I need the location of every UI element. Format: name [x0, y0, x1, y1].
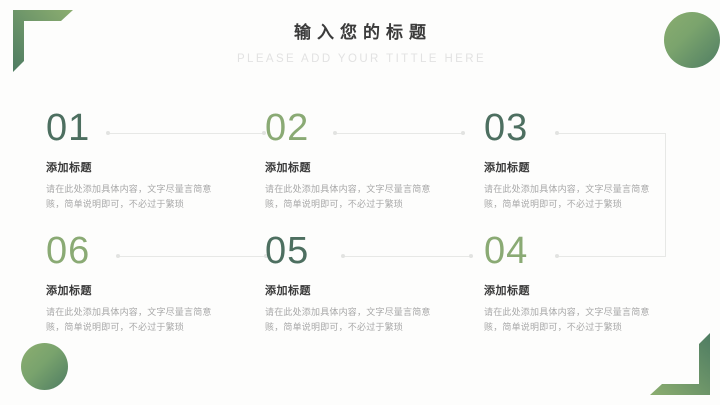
block-title-06: 添加标题 — [46, 284, 246, 298]
block-title-01: 添加标题 — [46, 161, 246, 175]
block-number-04: 04 — [484, 231, 684, 271]
block-number-06: 06 — [46, 231, 246, 271]
page-subtitle: PLEASE ADD YOUR TITTLE HERE — [0, 50, 720, 68]
page-title: 输入您的标题 — [0, 22, 720, 44]
block-number-05: 05 — [265, 231, 465, 271]
block-body-03: 请在此处添加具体内容，文字尽量言简意赅，简单说明即可，不必过于繁琐 — [484, 182, 662, 212]
slide-header: 输入您的标题 PLEASE ADD YOUR TITTLE HERE — [0, 22, 720, 68]
block-number-01: 01 — [46, 108, 246, 148]
content-block-02[interactable]: 02 添加标题 请在此处添加具体内容，文字尽量言简意赅，简单说明即可，不必过于繁… — [265, 108, 465, 212]
block-body-05: 请在此处添加具体内容，文字尽量言简意赅，简单说明即可，不必过于繁琐 — [265, 305, 443, 335]
block-body-02: 请在此处添加具体内容，文字尽量言简意赅，简单说明即可，不必过于繁琐 — [265, 182, 443, 212]
content-block-06[interactable]: 06 添加标题 请在此处添加具体内容，文字尽量言简意赅，简单说明即可，不必过于繁… — [46, 231, 246, 335]
block-number-03: 03 — [484, 108, 684, 148]
block-body-06: 请在此处添加具体内容，文字尽量言简意赅，简单说明即可，不必过于繁琐 — [46, 305, 224, 335]
content-block-01[interactable]: 01 添加标题 请在此处添加具体内容，文字尽量言简意赅，简单说明即可，不必过于繁… — [46, 108, 246, 212]
block-title-05: 添加标题 — [265, 284, 465, 298]
block-title-03: 添加标题 — [484, 161, 684, 175]
content-block-04[interactable]: 04 添加标题 请在此处添加具体内容，文字尽量言简意赅，简单说明即可，不必过于繁… — [484, 231, 684, 335]
block-body-04: 请在此处添加具体内容，文字尽量言简意赅，简单说明即可，不必过于繁琐 — [484, 305, 662, 335]
corner-bracket-bottom-right-icon — [650, 333, 710, 395]
slide-canvas: 输入您的标题 PLEASE ADD YOUR TITTLE HERE 01 添加… — [0, 0, 720, 405]
block-body-01: 请在此处添加具体内容，文字尽量言简意赅，简单说明即可，不必过于繁琐 — [46, 182, 224, 212]
block-title-02: 添加标题 — [265, 161, 465, 175]
connector-dot-05-end — [469, 254, 473, 258]
block-number-02: 02 — [265, 108, 465, 148]
content-block-03[interactable]: 03 添加标题 请在此处添加具体内容，文字尽量言简意赅，简单说明即可，不必过于繁… — [484, 108, 684, 212]
decorative-circle-bottom-left — [21, 343, 68, 390]
content-block-05[interactable]: 05 添加标题 请在此处添加具体内容，文字尽量言简意赅，简单说明即可，不必过于繁… — [265, 231, 465, 335]
block-title-04: 添加标题 — [484, 284, 684, 298]
